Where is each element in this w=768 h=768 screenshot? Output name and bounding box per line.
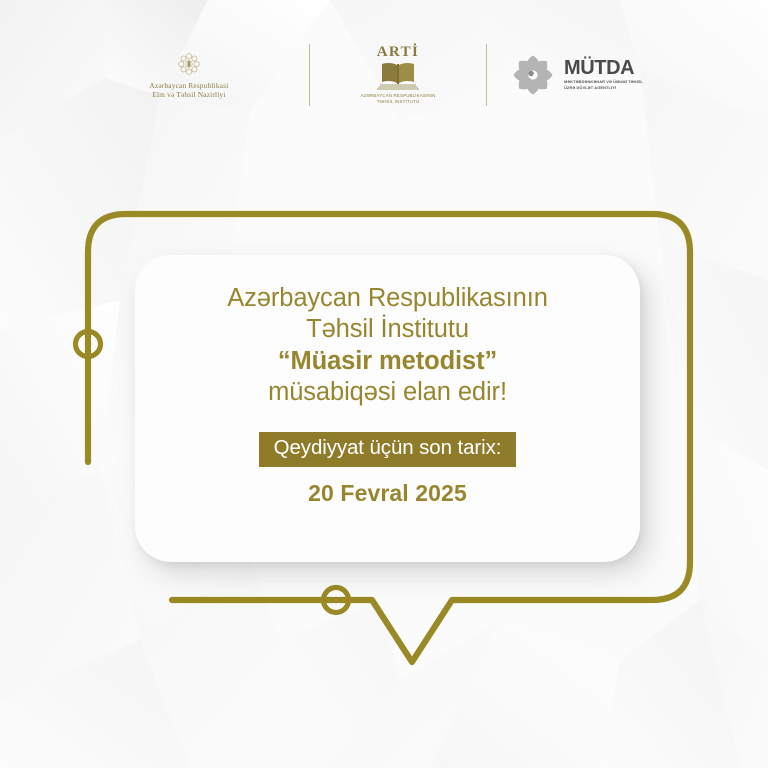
headline-line-4: müsabiqəsi elan edir!: [268, 377, 507, 408]
arti-subtitle: AZƏRBAYCAN RESPUBLİKASININ TƏHSİL İNSTİT…: [361, 93, 436, 106]
ministry-name-line-1: Azərbaycan Respublikasi: [150, 82, 229, 91]
open-book-icon: [377, 61, 419, 91]
headline-line-1: Azərbaycan Respublikasının: [227, 283, 548, 314]
mutda-wordmark: MÜTDA: [564, 59, 643, 78]
competition-title: “Müasir metodist”: [278, 346, 497, 377]
logo-arti: ARTİ AZƏRBAYCAN RESPUBLİKASININ TƏHSİL İ…: [332, 45, 464, 106]
deadline-label-banner: Qeydiyyat üçün son tarix:: [259, 432, 517, 467]
mutda-subtitle-line-2: ÜZRƏ DÖVLƏT AGENTLİYİ: [564, 85, 643, 91]
logo-divider-2: [486, 44, 487, 106]
logo-divider-1: [309, 44, 310, 106]
azerbaijan-ministry-rosette-emblem: [176, 51, 202, 77]
logo-bar: Azərbaycan Respublikasi Elm və Təhsil Na…: [0, 36, 768, 114]
arti-subtitle-line-2: TƏHSİL İNSTİTUTU: [361, 99, 436, 105]
mutda-pinwheel-star-mark: [509, 51, 557, 99]
mutda-subtitle: MƏKTƏBDƏNKƏNAR VƏ ÜMUMİ TƏHSİL ÜZRƏ DÖVL…: [564, 79, 643, 91]
announcement-card: Azərbaycan Respublikasının Təhsil İnstit…: [135, 255, 640, 562]
logo-mutda: MÜTDA MƏKTƏBDƏNKƏNAR VƏ ÜMUMİ TƏHSİL ÜZR…: [509, 51, 677, 99]
ministry-name-line-2: Elm və Təhsil Nazirliyi: [150, 91, 229, 100]
ministry-name: Azərbaycan Respublikasi Elm və Təhsil Na…: [150, 82, 229, 100]
deadline-date: 20 Fevral 2025: [308, 480, 467, 507]
headline-line-2: Təhsil İnstitutu: [306, 314, 469, 345]
arti-wordmark: ARTİ: [377, 45, 420, 60]
logo-ministry-of-education: Azərbaycan Respublikasi Elm və Təhsil Na…: [91, 51, 287, 100]
